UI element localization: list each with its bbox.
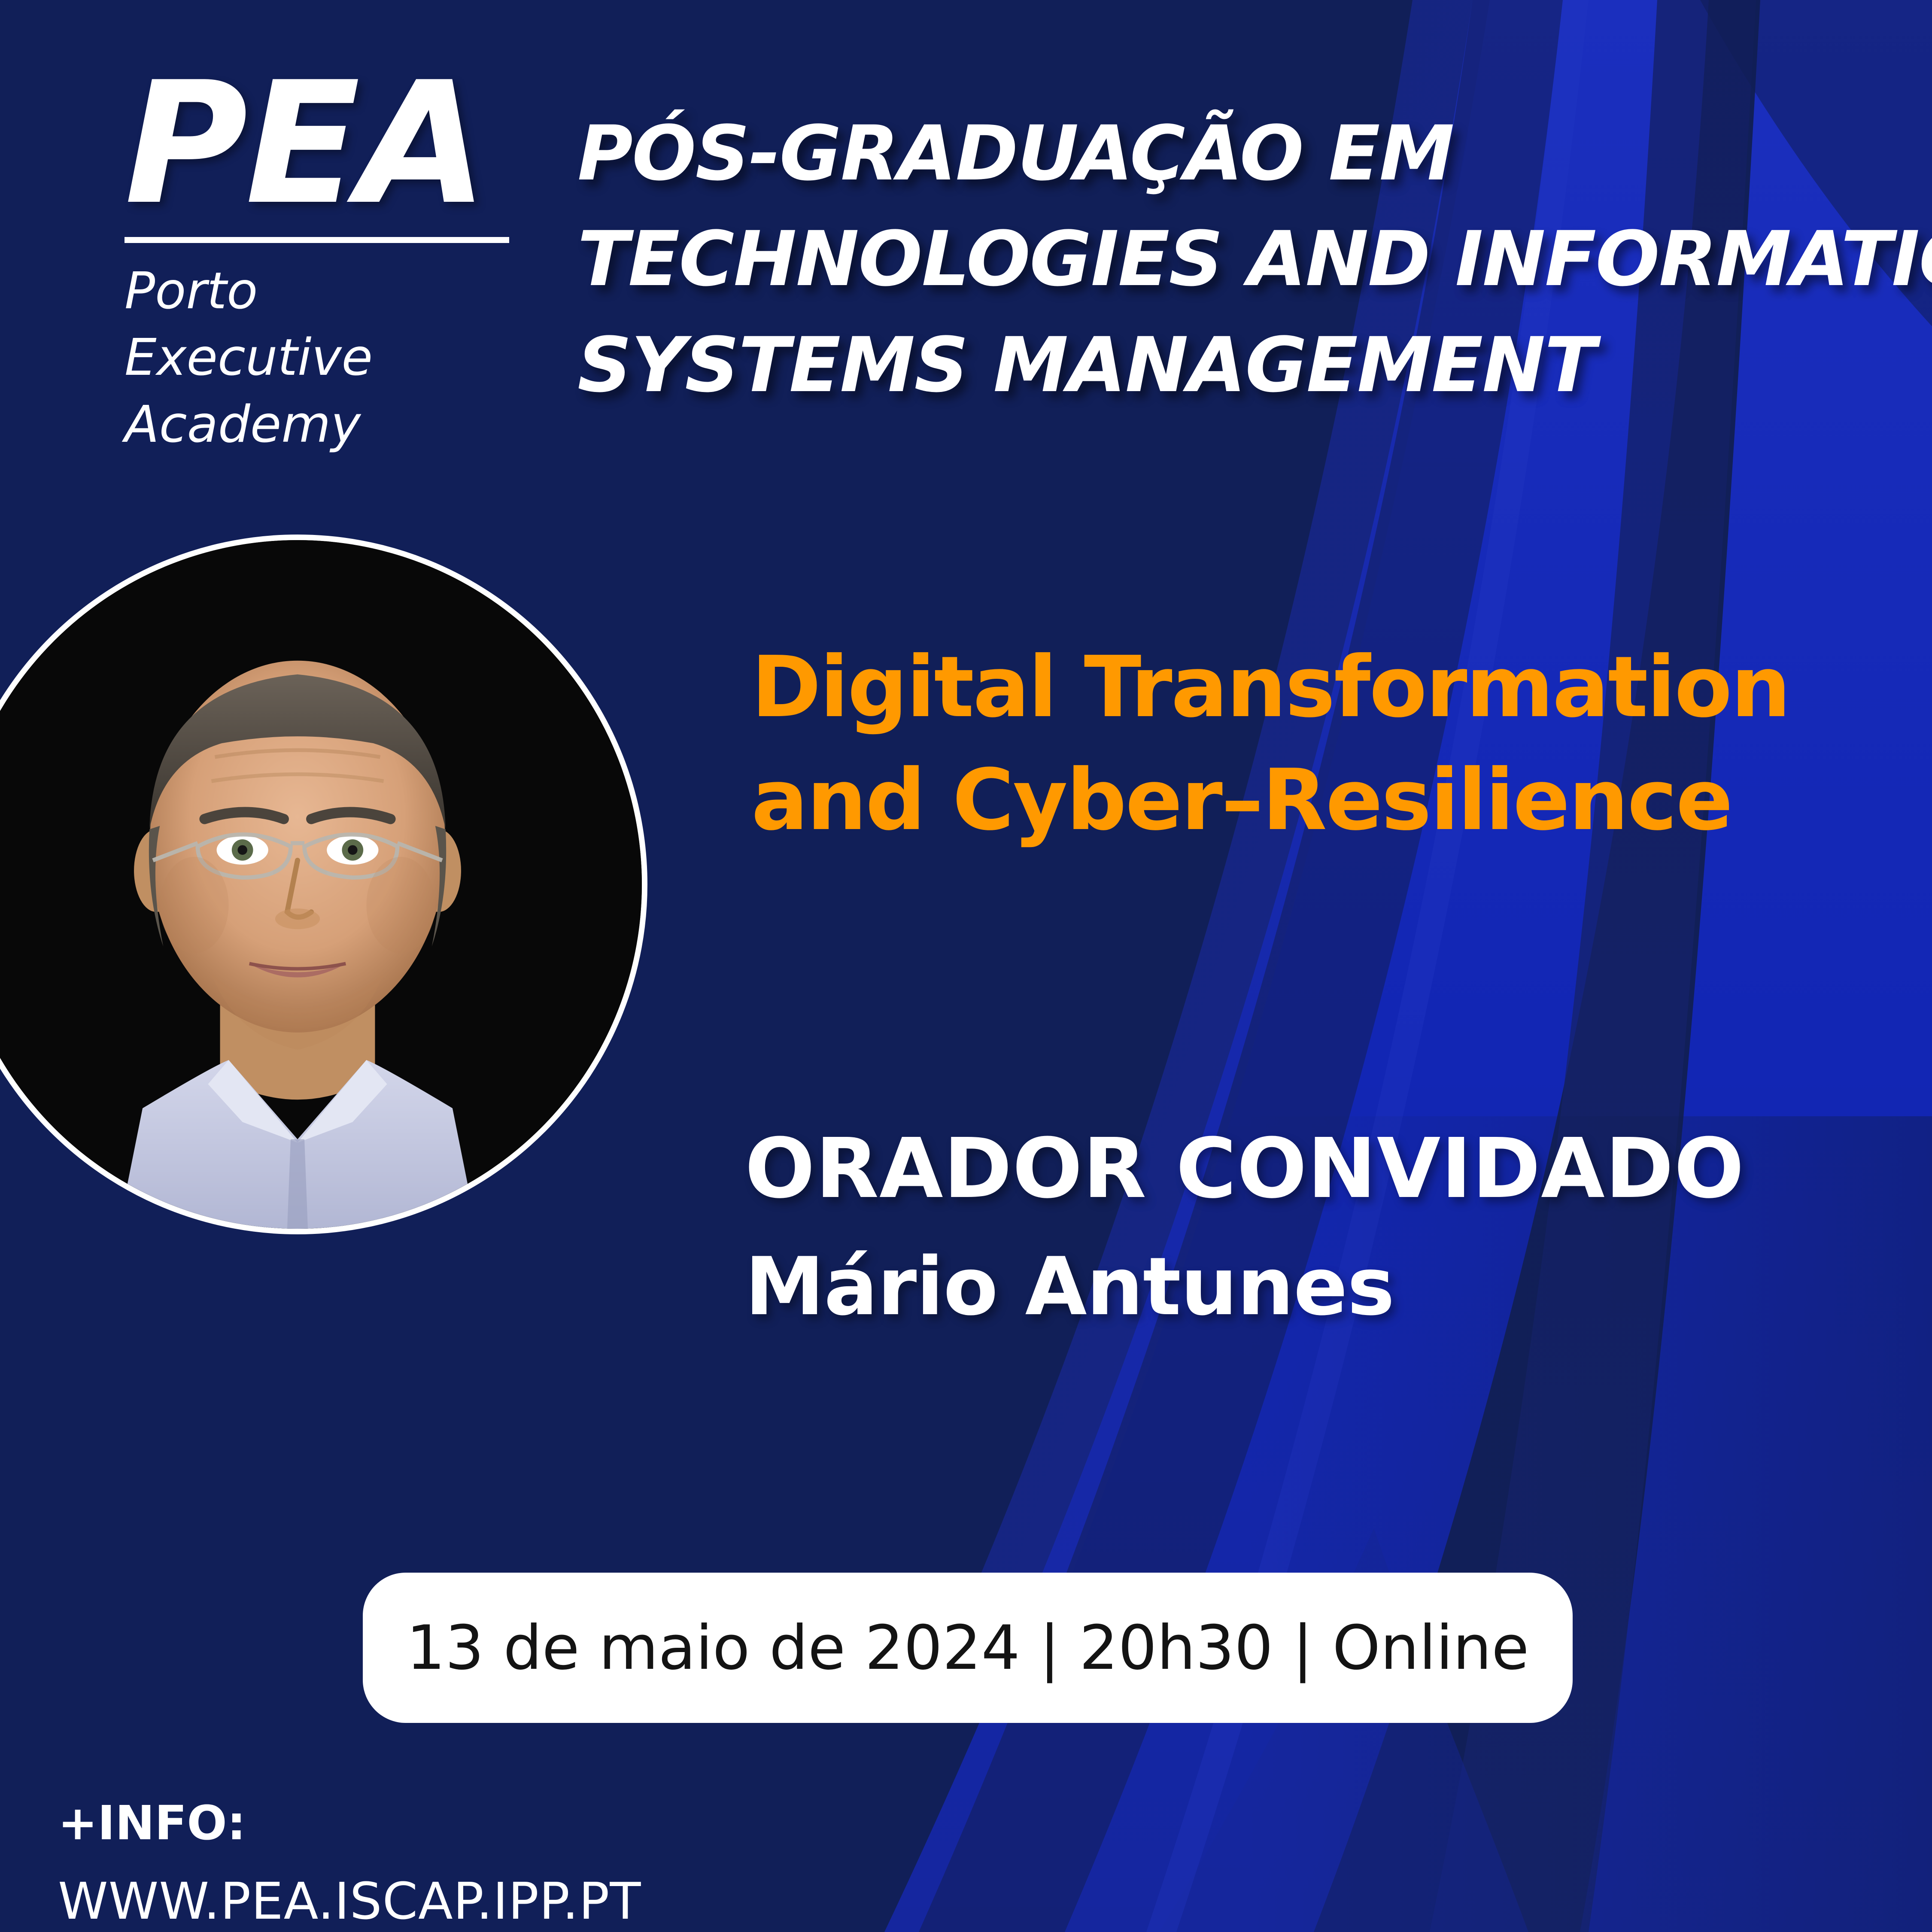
- program-title-line-3: SYSTEMS MANAGEMENT: [577, 313, 1887, 418]
- speaker-portrait-photo: [0, 540, 642, 1229]
- logo-subtitle-porto: Porto: [125, 258, 554, 325]
- talk-title: Digital Transformation and Cyber–Resilie…: [751, 631, 1911, 857]
- event-details-text: 13 de maio de 2024 | 20h30 | Online: [407, 1613, 1529, 1683]
- speaker-name: Mário Antunes: [745, 1235, 1861, 1339]
- pea-wordmark: PEA: [125, 67, 554, 222]
- program-title-line-1: PÓS-GRADUAÇÃO EM: [577, 101, 1887, 207]
- talk-title-line-1: Digital Transformation: [751, 631, 1911, 744]
- talk-title-line-2: and Cyber–Resilience: [751, 744, 1911, 857]
- program-title-line-2: TECHNOLOGIES AND INFORMATIONS: [577, 207, 1887, 312]
- logo-subtitle-executive: Executive: [125, 324, 554, 391]
- speaker-portrait-frame: [0, 535, 647, 1234]
- event-details-pill: 13 de maio de 2024 | 20h30 | Online: [363, 1573, 1573, 1723]
- more-info-label: +INFO:: [58, 1795, 917, 1851]
- speaker-block: ORADOR CONVIDADO Mário Antunes: [745, 1116, 1861, 1339]
- footer-block: +INFO: WWW.PEA.ISCAP.IPP.PT: [58, 1795, 917, 1932]
- logo-subtitle-academy: Academy: [125, 391, 554, 458]
- pea-logo-block: PEA Porto Executive Academy: [125, 67, 554, 458]
- event-poster: PEA Porto Executive Academy PÓS-GRADUAÇÃ…: [0, 0, 1932, 1932]
- website-url[interactable]: WWW.PEA.ISCAP.IPP.PT: [58, 1871, 917, 1932]
- program-title: PÓS-GRADUAÇÃO EM TECHNOLOGIES AND INFORM…: [577, 101, 1887, 418]
- speaker-role-label: ORADOR CONVIDADO: [745, 1116, 1861, 1222]
